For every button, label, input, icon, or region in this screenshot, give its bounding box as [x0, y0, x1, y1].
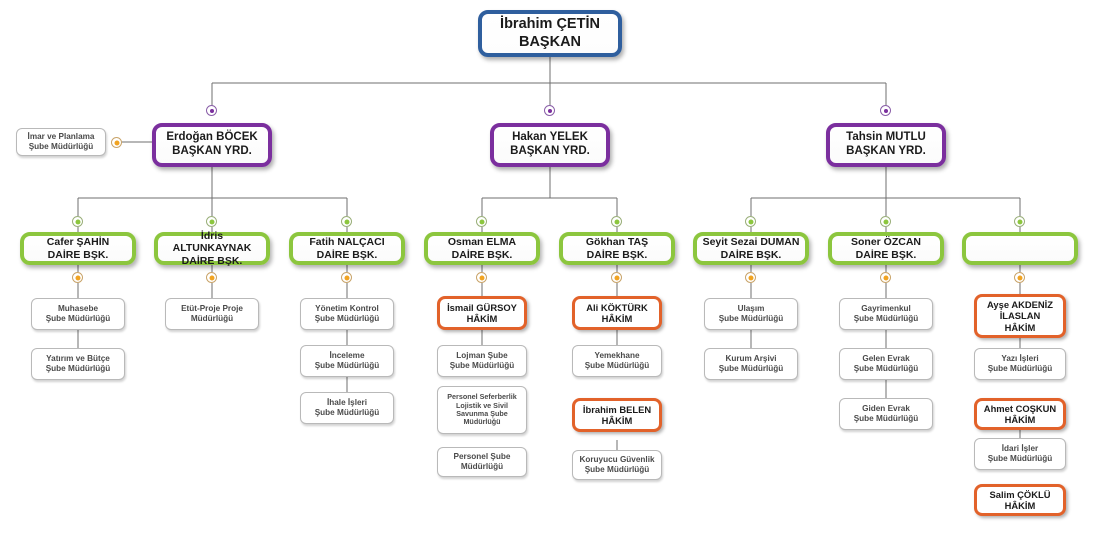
- node-unit-koruyucu-guvenlik[interactable]: Koruyucu Güvenlik Şube Müdürlüğü: [572, 450, 662, 480]
- unit-line2: Şube Müdürlüğü: [29, 142, 94, 151]
- dept-name: Soner ÖZCAN: [851, 236, 921, 248]
- unit-line1: Yatırım ve Bütçe: [46, 354, 110, 363]
- node-unit-yonetim-kontrol[interactable]: Yönetim Kontrol Şube Müdürlüğü: [300, 298, 394, 330]
- unit-line2: Şube Müdürlüğü: [585, 361, 650, 370]
- connector-dot-side-unit: [111, 137, 122, 148]
- node-dept-fatih-nalcaci[interactable]: Fatih NALÇACI DAİRE BŞK.: [289, 232, 405, 265]
- node-dept-cafer-sahin[interactable]: Cafer ŞAHİN DAİRE BŞK.: [20, 232, 136, 265]
- node-president[interactable]: İbrahim ÇETİN BAŞKAN: [478, 10, 622, 57]
- connector-dot-vp-1: [206, 105, 217, 116]
- unit-line1: Ulaşım: [738, 304, 765, 313]
- judge-title: HÂKİM: [602, 415, 633, 426]
- node-unit-personel-seferberlik[interactable]: Personel Seferberlik Lojistik ve Sivil S…: [437, 386, 527, 434]
- unit-line1: Gelen Evrak: [862, 354, 909, 363]
- node-unit-kurum-arsivi[interactable]: Kurum Arşivi Şube Müdürlüğü: [704, 348, 798, 380]
- unit-line1: Yazı İşleri: [1001, 354, 1038, 363]
- node-unit-gelen-evrak[interactable]: Gelen Evrak Şube Müdürlüğü: [839, 348, 933, 380]
- unit-line1: Kurum Arşivi: [725, 354, 776, 363]
- unit-line2: Şube Müdürlüğü: [988, 454, 1053, 463]
- dept-name: İdris ALTUNKAYNAK: [173, 230, 252, 254]
- unit-line2: Şube Müdürlüğü: [46, 314, 111, 323]
- connector-dot-sub-3: [341, 272, 352, 283]
- unit-line2: Şube Müdürlüğü: [719, 364, 784, 373]
- dept-title: DAİRE BŞK.: [856, 249, 917, 261]
- president-name: İbrahim ÇETİN: [500, 16, 600, 32]
- connector-dot-dept-3: [341, 216, 352, 227]
- node-vp-erdogan-bocek[interactable]: Erdoğan BÖCEK BAŞKAN YRD.: [152, 123, 272, 167]
- node-dept-idris-altunkaynak[interactable]: İdris ALTUNKAYNAK DAİRE BŞK.: [154, 232, 270, 265]
- judge-name: Ahmet COŞKUN: [984, 403, 1056, 414]
- node-dept-empty[interactable]: [962, 232, 1078, 265]
- dept-title: DAİRE BŞK.: [452, 249, 513, 261]
- connector-dot-sub-6: [745, 272, 756, 283]
- connector-dot-sub-1: [72, 272, 83, 283]
- connector-dot-dept-7: [880, 216, 891, 227]
- dept-title: DAİRE BŞK.: [182, 255, 243, 267]
- unit-line1: Muhasebe: [58, 304, 98, 313]
- connector-lines: [0, 0, 1100, 535]
- node-judge-salim-coklu[interactable]: Salim ÇÖKLÜ HÂKİM: [974, 484, 1066, 516]
- judge-name-1: Ayşe AKDENİZ: [987, 299, 1053, 310]
- judge-name: Salim ÇÖKLÜ: [990, 489, 1051, 500]
- node-unit-yazi-isleri[interactable]: Yazı İşleri Şube Müdürlüğü: [974, 348, 1066, 380]
- unit-line1: Etüt-Proje Proje: [181, 304, 243, 313]
- unit-line1: Gayrimenkul: [861, 304, 911, 313]
- connector-dot-sub-2: [206, 272, 217, 283]
- vp-name: Hakan YELEK: [512, 131, 588, 143]
- node-judge-ali-kokturk[interactable]: Ali KÖKTÜRK HÂKİM: [572, 296, 662, 330]
- unit-line4: Müdürlüğü: [463, 417, 500, 426]
- unit-line1: Yemekhane: [594, 351, 639, 360]
- node-judge-ayse-akdeniz-ilaslan[interactable]: Ayşe AKDENİZ İLASLAN HÂKİM: [974, 294, 1066, 338]
- node-judge-ibrahim-belen[interactable]: İbrahim BELEN HÂKİM: [572, 398, 662, 432]
- dept-name: Cafer ŞAHİN: [47, 236, 109, 248]
- unit-line2: Şube Müdürlüğü: [315, 408, 380, 417]
- connector-dot-vp-2: [544, 105, 555, 116]
- president-title: BAŞKAN: [519, 34, 581, 50]
- vp-title: BAŞKAN YRD.: [510, 145, 590, 157]
- node-judge-ahmet-coskun[interactable]: Ahmet COŞKUN HÂKİM: [974, 398, 1066, 430]
- judge-name-2: İLASLAN: [1000, 310, 1041, 321]
- vp-name: Tahsin MUTLU: [846, 131, 926, 143]
- node-unit-inceleme[interactable]: İnceleme Şube Müdürlüğü: [300, 345, 394, 377]
- unit-line2: Şube Müdürlüğü: [315, 361, 380, 370]
- node-unit-muhasebe[interactable]: Muhasebe Şube Müdürlüğü: [31, 298, 125, 330]
- connector-dot-sub-4: [476, 272, 487, 283]
- judge-name: İbrahim BELEN: [583, 404, 651, 415]
- unit-line2: Şube Müdürlüğü: [854, 364, 919, 373]
- unit-line1: Lojman Şube: [456, 351, 507, 360]
- node-dept-osman-elma[interactable]: Osman ELMA DAİRE BŞK.: [424, 232, 540, 265]
- dept-name: Osman ELMA: [448, 236, 516, 248]
- node-dept-seyit-sezai-duman[interactable]: Seyit Sezai DUMAN DAİRE BŞK.: [693, 232, 809, 265]
- node-judge-ismail-gursoy[interactable]: İsmail GÜRSOY HÂKİM: [437, 296, 527, 330]
- node-unit-gayrimenkul[interactable]: Gayrimenkul Şube Müdürlüğü: [839, 298, 933, 330]
- unit-line2: Şube Müdürlüğü: [719, 314, 784, 323]
- connector-dot-dept-5: [611, 216, 622, 227]
- vp-name: Erdoğan BÖCEK: [166, 131, 257, 143]
- unit-line1: İnceleme: [329, 351, 364, 360]
- judge-title: HÂKİM: [602, 313, 633, 324]
- judge-title: HÂKİM: [1005, 322, 1036, 333]
- node-unit-yemekhane[interactable]: Yemekhane Şube Müdürlüğü: [572, 345, 662, 377]
- judge-name: Ali KÖKTÜRK: [586, 302, 647, 313]
- unit-line2: Şube Müdürlüğü: [988, 364, 1053, 373]
- unit-line1: İhale İşleri: [327, 398, 367, 407]
- dept-title: DAİRE BŞK.: [317, 249, 378, 261]
- node-unit-giden-evrak[interactable]: Giden Evrak Şube Müdürlüğü: [839, 398, 933, 430]
- judge-title: HÂKİM: [1005, 500, 1036, 511]
- connector-dot-vp-3: [880, 105, 891, 116]
- vp-title: BAŞKAN YRD.: [172, 145, 252, 157]
- judge-title: HÂKİM: [467, 313, 498, 324]
- node-dept-soner-ozcan[interactable]: Soner ÖZCAN DAİRE BŞK.: [828, 232, 944, 265]
- connector-dot-dept-6: [745, 216, 756, 227]
- dept-name: Fatih NALÇACI: [309, 236, 384, 248]
- vp-title: BAŞKAN YRD.: [846, 145, 926, 157]
- connector-dot-dept-2: [206, 216, 217, 227]
- connector-dot-dept-8: [1014, 216, 1025, 227]
- unit-line1: Giden Evrak: [862, 404, 910, 413]
- unit-line2: Şube Müdürlüğü: [450, 361, 515, 370]
- unit-line2: Şube Müdürlüğü: [585, 465, 650, 474]
- node-imar-ve-planlama[interactable]: İmar ve Planlama Şube Müdürlüğü: [16, 128, 106, 156]
- connector-dot-sub-7: [880, 272, 891, 283]
- unit-line1: İdari İşler: [1002, 444, 1038, 453]
- connector-dot-sub-8: [1014, 272, 1025, 283]
- unit-line2: Şube Müdürlüğü: [854, 414, 919, 423]
- connector-dot-dept-1: [72, 216, 83, 227]
- unit-line1: Personel Şube: [454, 452, 511, 461]
- node-unit-ulasim[interactable]: Ulaşım Şube Müdürlüğü: [704, 298, 798, 330]
- node-unit-idari-isler[interactable]: İdari İşler Şube Müdürlüğü: [974, 438, 1066, 470]
- connector-dot-dept-4: [476, 216, 487, 227]
- unit-line2: Müdürlüğü: [191, 314, 233, 323]
- node-vp-hakan-yelek[interactable]: Hakan YELEK BAŞKAN YRD.: [490, 123, 610, 167]
- dept-title: DAİRE BŞK.: [48, 249, 109, 261]
- org-chart: İbrahim ÇETİN BAŞKAN İmar ve Planlama Şu…: [0, 0, 1100, 535]
- unit-line2: Şube Müdürlüğü: [46, 364, 111, 373]
- connector-dot-sub-5: [611, 272, 622, 283]
- node-unit-ihale-isleri[interactable]: İhale İşleri Şube Müdürlüğü: [300, 392, 394, 424]
- unit-line1: Koruyucu Güvenlik: [579, 455, 654, 464]
- unit-line1: Yönetim Kontrol: [315, 304, 379, 313]
- dept-name: Gökhan TAŞ: [586, 236, 648, 248]
- node-dept-gokhan-tas[interactable]: Gökhan TAŞ DAİRE BŞK.: [559, 232, 675, 265]
- unit-line2: Müdürlüğü: [461, 462, 503, 471]
- unit-line1: İmar ve Planlama: [28, 132, 95, 141]
- unit-line2: Şube Müdürlüğü: [315, 314, 380, 323]
- judge-name: İsmail GÜRSOY: [447, 302, 517, 313]
- unit-line2: Şube Müdürlüğü: [854, 314, 919, 323]
- node-unit-yatirim-ve-butce[interactable]: Yatırım ve Bütçe Şube Müdürlüğü: [31, 348, 125, 380]
- dept-title: DAİRE BŞK.: [721, 249, 782, 261]
- node-unit-lojman-sube[interactable]: Lojman Şube Şube Müdürlüğü: [437, 345, 527, 377]
- dept-title: DAİRE BŞK.: [587, 249, 648, 261]
- node-unit-personel-sube[interactable]: Personel Şube Müdürlüğü: [437, 447, 527, 477]
- node-unit-etut-proje[interactable]: Etüt-Proje Proje Müdürlüğü: [165, 298, 259, 330]
- judge-title: HÂKİM: [1005, 414, 1036, 425]
- node-vp-tahsin-mutlu[interactable]: Tahsin MUTLU BAŞKAN YRD.: [826, 123, 946, 167]
- dept-name: Seyit Sezai DUMAN: [703, 236, 800, 248]
